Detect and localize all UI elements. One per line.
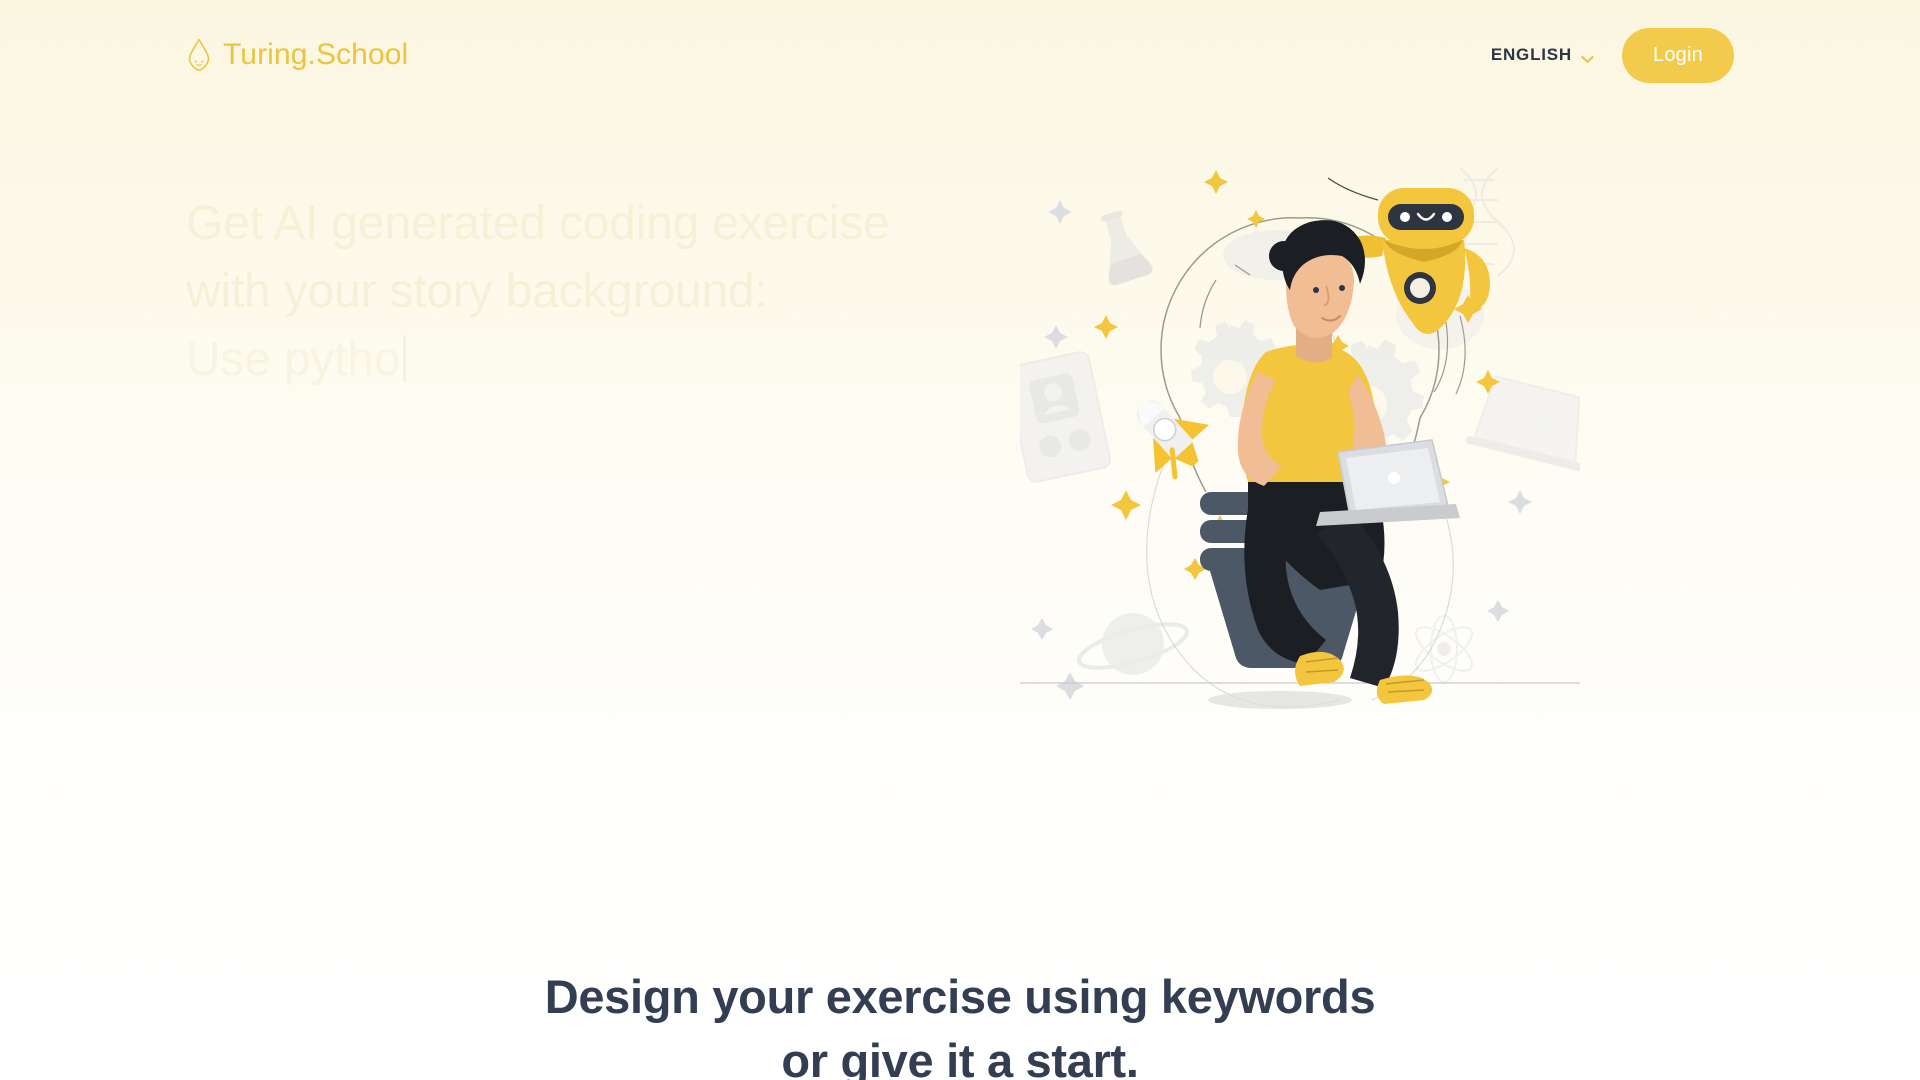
section-heading-line-1: Design your exercise using keywords — [0, 965, 1920, 1029]
hero-headline: Get AI generated coding exercise with yo… — [186, 190, 946, 326]
hero-copy: Get AI generated coding exercise with yo… — [186, 190, 946, 394]
diamond-gem-icon — [186, 38, 212, 72]
hero-typed-text: Use pytho — [186, 326, 946, 394]
brand-logo[interactable]: Turing.School — [186, 38, 408, 72]
hero-headline-line-3: background: — [506, 265, 768, 318]
text-caret — [403, 335, 406, 381]
hero-subline-text: Use pytho — [186, 326, 400, 394]
login-button[interactable]: Login — [1622, 28, 1734, 83]
site-header: Turing.School ENGLISH Login — [0, 0, 1920, 110]
section-heading-line-2: or give it a start. — [0, 1029, 1920, 1080]
hero-section: Get AI generated coding exercise with yo… — [0, 110, 1920, 810]
header-actions: ENGLISH Login — [1491, 28, 1734, 83]
chevron-down-icon — [1581, 51, 1594, 60]
language-selector[interactable]: ENGLISH — [1491, 45, 1594, 65]
brand-name: Turing.School — [223, 38, 408, 72]
id-card-icon — [1020, 351, 1112, 484]
section-heading: Design your exercise using keywords or g… — [0, 965, 1920, 1080]
laptop-icon — [1465, 373, 1580, 472]
ai-coding-illustration — [1020, 160, 1580, 760]
atom-icon — [1410, 616, 1479, 682]
hero-headline-line-1: Get AI generated coding — [186, 197, 699, 250]
flask-icon — [1089, 206, 1154, 287]
language-label: ENGLISH — [1491, 45, 1572, 65]
